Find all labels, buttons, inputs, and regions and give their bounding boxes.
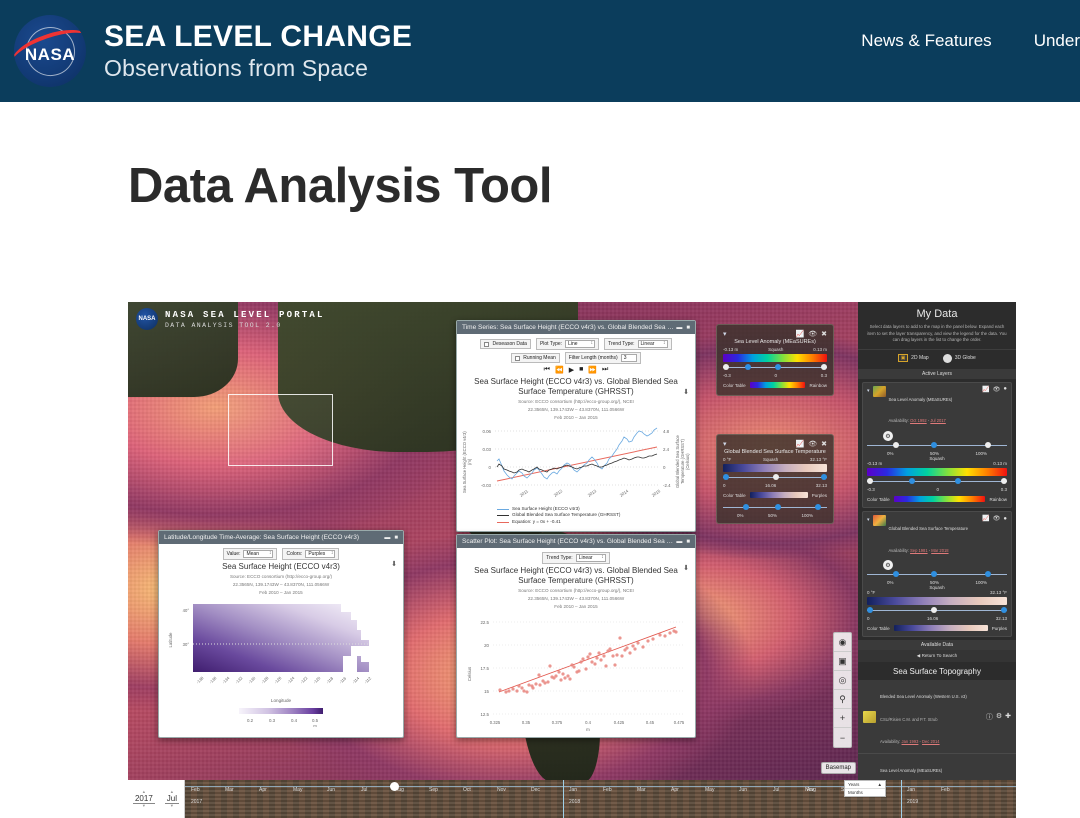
scale-selected[interactable]: Years ▲ [845, 781, 885, 788]
nav-item-news[interactable]: News & Features [861, 31, 991, 51]
svg-text:-116: -116 [338, 675, 348, 685]
site-subtitle: Observations from Space [104, 56, 412, 81]
color-table-value[interactable]: Rainbow [809, 383, 827, 388]
trend-type-select[interactable]: Trend Type: Linear [604, 338, 671, 350]
layer-actions[interactable]: 📈 👁 ● [982, 515, 1007, 522]
color-table-label: Color Table [723, 493, 746, 498]
opacity-knob-0[interactable] [743, 504, 749, 510]
sidebar-title: My Data [858, 302, 1016, 324]
month-label: Feb [603, 787, 612, 793]
svg-text:0.4: 0.4 [291, 718, 298, 723]
window-scatter-plot[interactable]: Scatter Plot: Sea Surface Height (ECCO v… [456, 534, 696, 738]
svg-text:-112: -112 [363, 675, 373, 685]
add-icon[interactable]: ✚ [1005, 712, 1011, 722]
opacity-tick-0: 0% [887, 451, 894, 456]
slider-knob-mid[interactable] [931, 607, 937, 613]
map-brand-line2: DATA ANALYSIS TOOL 2.0 [165, 322, 325, 329]
svg-text:-130: -130 [247, 675, 257, 685]
window-buttons[interactable]: ▬ ■ [676, 539, 690, 545]
range-min: -0.13 m [867, 461, 882, 466]
slider-knob-max[interactable] [821, 364, 827, 370]
legend-label-sst: Global Blended Sea Surface Temperature (… [512, 512, 620, 519]
window-body: Value: Mean Colors: Purples ⬇ Sea Surfac… [159, 544, 403, 737]
widget-title: Global Blended Sea Surface Temperature [723, 449, 827, 455]
active-layers-header: Active Layers [858, 369, 1016, 379]
dataset-availability: Availability: Jan 1993 - Dec 2014 [880, 739, 940, 744]
availability-to[interactable]: Jul 2017 [930, 418, 945, 423]
stepper-down-icon[interactable]: ▼ [165, 804, 179, 808]
gear-icon[interactable]: ⚙ [996, 712, 1002, 722]
globe-icon[interactable]: ◉ [834, 633, 851, 652]
plot-type-select[interactable]: Plot Type: Line [536, 338, 599, 350]
range-ticks: 0 16.06 32.13 [723, 483, 827, 488]
gear-icon[interactable]: ⚙ [883, 431, 893, 441]
tick-mid: 16.06 [765, 483, 776, 488]
tick-min: 0 [867, 616, 870, 621]
data-analysis-tool: NASA NASA SEA LEVEL PORTAL DATA ANALYSIS… [128, 302, 1016, 780]
range-max: 32.13 °F [810, 457, 827, 462]
info-icon[interactable]: ⓘ [986, 712, 993, 722]
timeline-bar[interactable]: ▲ 2017 ▼ ▲ Jul ▼ Feb Mar Apr May Jun Jul… [128, 780, 1016, 818]
range-max: 32.13 °F [990, 590, 1007, 595]
legend-item-equation: Equation: y = 0x + -0.41 [497, 519, 689, 526]
minimize-icon[interactable]: ▬ [676, 539, 682, 545]
availability-label: Availability: [889, 418, 909, 423]
window-titlebar[interactable]: Time Series: Sea Surface Height (ECCO v4… [457, 321, 695, 334]
gear-icon[interactable]: ⚙ [883, 560, 893, 570]
eye-icon[interactable]: 👁 [808, 330, 817, 338]
timeseries-controls-row2[interactable]: Running Mean Filter Length (months) 3 [463, 352, 689, 364]
slider-track [867, 610, 1007, 611]
svg-text:22.5: 22.5 [480, 620, 489, 625]
slider-knob-low[interactable] [745, 364, 751, 370]
dataset-meta: Blended Sea Level Anomaly (Western U.S. … [880, 683, 982, 750]
month-label: Nov [805, 787, 814, 793]
opacity-knob-100[interactable] [985, 442, 991, 448]
color-table-label: Color Table [867, 497, 890, 502]
legend-label-equation: Equation: y = 0x + -0.41 [512, 519, 561, 526]
widget-range: -0.13 m Squash 0.13 m [723, 347, 827, 352]
close-icon[interactable]: ■ [686, 325, 690, 331]
legend-swatch-sst [497, 515, 509, 516]
opacity-knob-100[interactable] [815, 504, 821, 510]
map-brand-line1: NASA SEA LEVEL PORTAL [165, 310, 325, 320]
eye-icon[interactable]: 👁 [808, 440, 817, 448]
color-table-label: Color Table [867, 626, 890, 631]
scale-label: Years [848, 782, 859, 787]
window-time-series[interactable]: Time Series: Sea Surface Height (ECCO v4… [456, 320, 696, 532]
svg-text:Celsius: Celsius [467, 666, 472, 681]
running-mean-checkbox[interactable]: Running Mean [511, 353, 560, 363]
site-title: SEA LEVEL CHANGE [104, 21, 412, 53]
tick-mid: 0 [774, 373, 777, 378]
sidebar-description: Select data layers to add to the map in … [858, 324, 1016, 349]
floating-legend-sea-level-anomaly[interactable]: ▾ 📈 👁 ✖ Sea Level Anomaly (MEaSUREs) -0.… [716, 324, 834, 396]
widget-range: 0 °F Squash 32.13 °F [723, 457, 827, 462]
window-title: Time Series: Sea Surface Height (ECCO v4… [462, 324, 676, 331]
filter-length-field[interactable]: Filter Length (months) 3 [565, 352, 641, 364]
colors-value[interactable]: Purples [305, 550, 335, 558]
timeline-cursor[interactable] [390, 782, 399, 791]
opacity-slider[interactable] [867, 442, 1007, 449]
legend-item-ssh: Sea Surface Height (ECCO v4r3) [497, 506, 689, 513]
tick-max: 0.3 [1001, 487, 1007, 492]
month-label: Apr [671, 787, 679, 793]
tick-min: -0.3 [867, 487, 875, 492]
target-icon[interactable]: ◎ [834, 671, 851, 690]
close-icon[interactable]: ■ [686, 539, 690, 545]
close-icon[interactable]: ✖ [821, 330, 827, 338]
layer-header[interactable]: ▾ Sea Level Anomaly (MEaSUREs) Availabil… [867, 386, 1007, 429]
region-selection-box[interactable] [228, 394, 333, 466]
opacity-knob-100[interactable] [985, 571, 991, 577]
window-title: Latitude/Longitude Time-Average: Sea Sur… [164, 534, 384, 541]
timeline-track[interactable]: Feb Mar Apr May Jun Jul Aug Sep Oct Nov … [185, 780, 1016, 818]
layer-name: Sea Level Anomaly (MEaSUREs) [889, 397, 953, 402]
svg-text:-0.03: -0.03 [481, 483, 492, 488]
month-label: Nov [497, 787, 506, 793]
dataset-sea-level-anomaly-measures[interactable]: Sea Level Anomaly (MEaSUREs) NASA MEaSUR… [858, 754, 1016, 780]
scatter-controls[interactable]: Trend Type: Linear [463, 552, 689, 564]
dataset-actions[interactable]: ⓘ ⚙ ✚ [986, 712, 1011, 722]
svg-text:0.375: 0.375 [552, 720, 563, 725]
range-max: 0.13 m [813, 347, 827, 352]
colors-select[interactable]: Colors: Purples [282, 548, 339, 560]
slider-knob-max[interactable] [821, 474, 827, 480]
layer-actions[interactable]: 📈 👁 ● [982, 386, 1007, 393]
chart-title: Sea Surface Height (ECCO v4r3) vs. Globa… [463, 377, 689, 397]
chart-source-3: Feb 2010 – Jan 2015 [463, 415, 689, 421]
year-marker: 2019 [907, 799, 918, 805]
chart-source-1: Source: ECCO consortium (http://ecco-gro… [463, 399, 689, 405]
chevron-down-icon[interactable]: ▾ [723, 440, 727, 448]
stepper-down-icon[interactable]: ▼ [133, 804, 155, 808]
color-table-value[interactable]: Purples [992, 626, 1007, 631]
nav-item-understanding[interactable]: Under [1034, 31, 1080, 51]
close-icon[interactable]: ✖ [821, 440, 827, 448]
scatter-plot: 22.5 20 17.5 15 12.5 Celsius [463, 614, 689, 732]
latlon-controls[interactable]: Value: Mean Colors: Purples [165, 548, 397, 560]
month-label: May [293, 787, 302, 793]
svg-text:-126: -126 [273, 675, 283, 685]
chart-source-2: 22.3565N, 139.1743W – 43.8370N, 111.0566… [463, 407, 689, 413]
floating-legend-sst[interactable]: ▾ 📈 👁 ✖ Global Blended Sea Surface Tempe… [716, 434, 834, 524]
layer-meta: Sea Level Anomaly (MEaSUREs) Availabilit… [889, 386, 980, 429]
month-label: Jan [569, 787, 577, 793]
tick-max: 32.13 [816, 483, 827, 488]
trend-type-value[interactable]: Linear [638, 340, 668, 348]
nasa-wordmark: NASA [14, 45, 86, 65]
slider-knob-mid[interactable] [955, 478, 961, 484]
svg-text:-138: -138 [195, 675, 205, 685]
svg-text:0.475: 0.475 [674, 720, 685, 725]
slider-knob-min[interactable] [867, 607, 873, 613]
svg-text:0.06: 0.06 [482, 429, 491, 434]
svg-text:-2.4: -2.4 [663, 483, 671, 488]
opacity-knob-50[interactable] [775, 504, 781, 510]
svg-text:-118: -118 [325, 675, 335, 685]
color-table-value[interactable]: Purples [812, 493, 827, 498]
chart-icon[interactable]: 📈 [796, 440, 805, 448]
chart-icon[interactable]: 📈 [796, 330, 805, 338]
color-table-value[interactable]: Rainbow [989, 497, 1007, 502]
tick-mid: 16.06 [927, 616, 938, 621]
opacity-knob-0[interactable] [893, 442, 899, 448]
chart-source-3: Feb 2010 – Jan 2015 [165, 590, 397, 596]
heatmap-svg: Latitude 40° 30° -138 - [165, 600, 399, 728]
layer-header[interactable]: ▾ Global Blended Sea Surface Temperature… [867, 515, 1007, 558]
timeseries-svg: 0.06 0.03 0 -0.03 4.8 2.4 0 -2.4 2011 [463, 425, 691, 503]
availability-label: Availability: [889, 548, 909, 553]
close-icon[interactable]: ● [1003, 516, 1007, 522]
chart-source-3: Feb 2010 – Jan 2015 [463, 604, 689, 610]
range-slider[interactable] [867, 607, 1007, 614]
color-table-row[interactable]: Color Table Purples [723, 490, 827, 500]
layer-range: 0 °F 32.13 °F [867, 590, 1007, 595]
zoom-out-icon[interactable]: − [834, 728, 851, 747]
availability-from[interactable]: Sep 1981 [910, 548, 928, 553]
chart-source-1: Source: ECCO consortium (http://ecco-gro… [165, 574, 397, 580]
svg-text:-114: -114 [351, 675, 361, 685]
return-label: Return To Search [922, 653, 958, 658]
month-label: Jun [739, 787, 747, 793]
window-latlon-average[interactable]: Latitude/Longitude Time-Average: Sea Sur… [158, 530, 404, 738]
map-tool-palette[interactable]: ◉ ▣ ◎ ⚲ + − [833, 632, 852, 748]
color-table-chip [750, 382, 806, 388]
month-label: Mar [637, 787, 646, 793]
svg-text:0.4: 0.4 [585, 720, 591, 725]
svg-text:17.5: 17.5 [480, 666, 489, 671]
slider-track [867, 481, 1007, 482]
colorbar-purples [723, 464, 827, 472]
widget-toolbar[interactable]: ▾ 📈 👁 ✖ [723, 329, 827, 338]
svg-text:2011: 2011 [519, 488, 530, 498]
opacity-knob-50[interactable] [931, 571, 937, 577]
trend-type-value[interactable]: Linear [576, 554, 606, 562]
rewind-icon[interactable]: ⏪ [555, 366, 564, 374]
slider-knob-min[interactable] [723, 364, 729, 370]
slider-knob-mid[interactable] [773, 474, 779, 480]
layer-sea-level-anomaly[interactable]: ▾ Sea Level Anomaly (MEaSUREs) Availabil… [862, 382, 1012, 508]
playback-controls[interactable]: ⏮ ⏪ ▶ ■ ⏩ ⏭ [463, 366, 689, 374]
range-slider[interactable] [867, 478, 1007, 485]
svg-text:0.3: 0.3 [269, 718, 276, 723]
svg-text:20: 20 [484, 643, 489, 648]
view-3d-globe-button[interactable]: 3D Globe [943, 354, 976, 363]
color-table-chip [894, 625, 988, 631]
plot-type-label: Plot Type: [540, 341, 562, 347]
chart-icon[interactable]: 📈 [982, 515, 989, 522]
tick-max: 0.3 [821, 373, 827, 378]
opacity-tick-0: 0% [737, 513, 744, 518]
widget-title: Sea Level Anomaly (MEaSUREs) [723, 339, 827, 345]
layers-icon[interactable]: ▣ [834, 652, 851, 671]
minimize-icon[interactable]: ▬ [676, 325, 682, 331]
deseason-data-checkbox[interactable]: Deseason Data [480, 339, 530, 349]
month-stepper[interactable]: ▲ Jul ▼ [165, 790, 179, 808]
chevron-down-icon[interactable]: ▾ [867, 517, 870, 523]
layer-availability: Availability: Oct 1992 - Jul 2017 [889, 418, 946, 423]
svg-text:0.03: 0.03 [482, 447, 491, 452]
close-icon[interactable]: ● [1003, 386, 1007, 392]
availability-to[interactable]: Mar 2018 [931, 548, 948, 553]
basemap-button[interactable]: Basemap [821, 762, 856, 774]
availability-from[interactable]: Jan 1993 [902, 739, 919, 744]
availability-to[interactable]: Dec 2014 [922, 739, 940, 744]
view-2d-map-button[interactable]: ▣ 2D Map [898, 354, 929, 363]
svg-text:-122: -122 [299, 675, 309, 685]
opacity-ticks: 0% 50% 100% [723, 513, 827, 518]
chevron-down-icon[interactable]: ▾ [867, 388, 870, 394]
pin-icon[interactable]: ⚲ [834, 690, 851, 709]
svg-text:-136: -136 [208, 675, 218, 685]
map-canvas[interactable]: NASA NASA SEA LEVEL PORTAL DATA ANALYSIS… [128, 302, 858, 780]
chevron-down-icon[interactable]: ▾ [723, 330, 727, 338]
svg-text:Latitude: Latitude [168, 631, 173, 647]
download-icon[interactable]: ⬇ [683, 388, 689, 396]
skip-end-icon[interactable]: ⏭ [602, 366, 608, 374]
year-stepper[interactable]: ▲ 2017 ▼ [133, 790, 155, 808]
play-icon[interactable]: ▶ [569, 366, 574, 374]
eye-icon[interactable]: 👁 [993, 515, 1001, 522]
month-label: Mar [225, 787, 234, 793]
color-table-row[interactable]: Color Table Rainbow [723, 380, 827, 390]
year-marker: 2018 [569, 799, 580, 805]
slider-knob-max[interactable] [1001, 607, 1007, 613]
svg-text:2013: 2013 [587, 488, 598, 498]
colorbar-rainbow [867, 468, 1007, 476]
slider-knob-max[interactable] [1001, 478, 1007, 484]
svg-text:4.8: 4.8 [663, 429, 670, 434]
checkbox-icon[interactable] [484, 342, 489, 347]
download-icon[interactable]: ⬇ [683, 564, 689, 572]
close-icon[interactable]: ■ [394, 535, 398, 541]
window-title: Scatter Plot: Sea Surface Height (ECCO v… [462, 538, 676, 545]
skip-start-icon[interactable]: ⏮ [544, 366, 550, 374]
layer-thumbnail [873, 515, 886, 526]
availability-from[interactable]: Oct 1992 [910, 418, 927, 423]
slider-knob-min[interactable] [723, 474, 729, 480]
timeseries-controls-row1[interactable]: Deseason Data Plot Type: Line Trend Type… [463, 338, 689, 350]
slider-knob-mid[interactable] [775, 364, 781, 370]
color-table-row[interactable]: Color Table Purples [867, 623, 1007, 633]
svg-text:0: 0 [489, 465, 492, 470]
map-branding: NASA NASA SEA LEVEL PORTAL DATA ANALYSIS… [136, 308, 325, 330]
plot-type-value[interactable]: Line [565, 340, 595, 348]
view-2d-label: 2D Map [911, 355, 929, 361]
chart-title: Sea Surface Height (ECCO v4r3) vs. Globa… [463, 566, 689, 586]
svg-text:40°: 40° [183, 608, 190, 613]
chevron-up-icon[interactable]: ▲ [878, 782, 882, 787]
value-select[interactable]: Value: Mean [223, 548, 278, 560]
range-ticks: -0.3 0 0.3 [723, 373, 827, 378]
month-label: Jul [361, 787, 367, 793]
return-to-search-button[interactable]: ◀ Return To Search [858, 650, 1016, 662]
dataset-org: CSU/Risien C.M. and P.T. Strub [880, 717, 938, 722]
minimize-icon[interactable]: ▬ [384, 535, 390, 541]
chart-title: Sea Surface Height (ECCO v4r3) [165, 562, 397, 572]
timeline-axis [185, 786, 1016, 787]
colors-label: Colors: [286, 551, 302, 557]
scatter-svg: 22.5 20 17.5 15 12.5 Celsius [463, 614, 691, 732]
globe-icon [943, 354, 952, 363]
range-ticks: 0 16.06 32.13 [867, 616, 1007, 621]
dataset-blended-sea-level-anomaly[interactable]: Blended Sea Level Anomaly (Western U.S. … [858, 680, 1016, 754]
view-mode-toggle[interactable]: ▣ 2D Map 3D Globe [858, 349, 1016, 369]
slider-knob-low[interactable] [909, 478, 915, 484]
svg-text:12.5: 12.5 [480, 712, 489, 717]
year-separator [563, 780, 564, 818]
opacity-tick-100: 100% [975, 451, 987, 456]
stop-icon[interactable]: ■ [579, 366, 583, 374]
svg-text:-128: -128 [260, 675, 270, 685]
layer-global-blended-sst[interactable]: ▾ Global Blended Sea Surface Temperature… [862, 511, 1012, 637]
tick-max: 32.13 [996, 616, 1007, 621]
month-label: Jan [907, 787, 915, 793]
range-slider[interactable] [723, 364, 827, 371]
nasa-logo[interactable]: NASA [14, 15, 86, 87]
opacity-slider[interactable] [723, 504, 827, 511]
squash-label[interactable]: Squash [763, 457, 778, 462]
download-icon[interactable]: ⬇ [391, 560, 397, 568]
chart-source-2: 22.3565N, 139.1743W – 43.8370N, 111.0566… [463, 596, 689, 602]
tick-min: -0.3 [723, 373, 731, 378]
scale-option-months[interactable]: Months [845, 788, 885, 796]
window-buttons[interactable]: ▬ ■ [384, 535, 398, 541]
value-value[interactable]: Mean [243, 550, 273, 558]
svg-text:-132: -132 [234, 675, 244, 685]
opacity-tick-0: 0% [887, 580, 894, 585]
range-ticks: -0.3 0 0.3 [867, 487, 1007, 492]
trend-type-select[interactable]: Trend Type: Linear [542, 552, 609, 564]
opacity-knob-0[interactable] [893, 571, 899, 577]
tick-mid: 0 [936, 487, 939, 492]
date-steppers[interactable]: ▲ 2017 ▼ ▲ Jul ▼ [128, 780, 185, 818]
opacity-knob-50[interactable] [931, 442, 937, 448]
opacity-slider[interactable] [867, 571, 1007, 578]
svg-text:0: 0 [663, 465, 666, 470]
slider-knob-min[interactable] [867, 478, 873, 484]
checkbox-icon[interactable] [515, 356, 520, 361]
trend-type-label: Trend Type: [546, 555, 572, 561]
range-slider[interactable] [723, 474, 827, 481]
fast-forward-icon[interactable]: ⏩ [588, 366, 597, 374]
chart-source-1: Source: ECCO consortium (http://ecco-gro… [463, 588, 689, 594]
window-body: Deseason Data Plot Type: Line Trend Type… [457, 334, 695, 531]
month-label: Jul [773, 787, 779, 793]
squash-label[interactable]: Squash [768, 347, 783, 352]
svg-text:-124: -124 [286, 675, 296, 685]
widget-toolbar[interactable]: ▾ 📈 👁 ✖ [723, 439, 827, 448]
filter-length-input[interactable]: 3 [621, 354, 637, 362]
chart-icon[interactable]: 📈 [982, 386, 989, 393]
color-table-row[interactable]: Color Table Rainbow [867, 494, 1007, 504]
eye-icon[interactable]: 👁 [993, 386, 1001, 393]
dataset-meta: Sea Level Anomaly (MEaSUREs) NASA MEaSUR… [880, 757, 982, 780]
zoom-in-icon[interactable]: + [834, 709, 851, 728]
svg-text:Longitude: Longitude [271, 698, 292, 703]
month-label: Apr [259, 787, 267, 793]
window-titlebar[interactable]: Scatter Plot: Sea Surface Height (ECCO v… [457, 535, 695, 548]
dataset-group-title: Sea Surface Topography [858, 662, 1016, 680]
trend-type-label: Trend Type: [608, 341, 634, 347]
timeline-scale-dropdown[interactable]: Years ▲ Months [844, 780, 886, 797]
window-buttons[interactable]: ▬ ■ [676, 325, 690, 331]
svg-text:30°: 30° [183, 642, 190, 647]
window-titlebar[interactable]: Latitude/Longitude Time-Average: Sea Sur… [159, 531, 403, 544]
month-label: Oct [463, 787, 471, 793]
dataset-name: Sea Level Anomaly (MEaSUREs) [880, 768, 942, 773]
